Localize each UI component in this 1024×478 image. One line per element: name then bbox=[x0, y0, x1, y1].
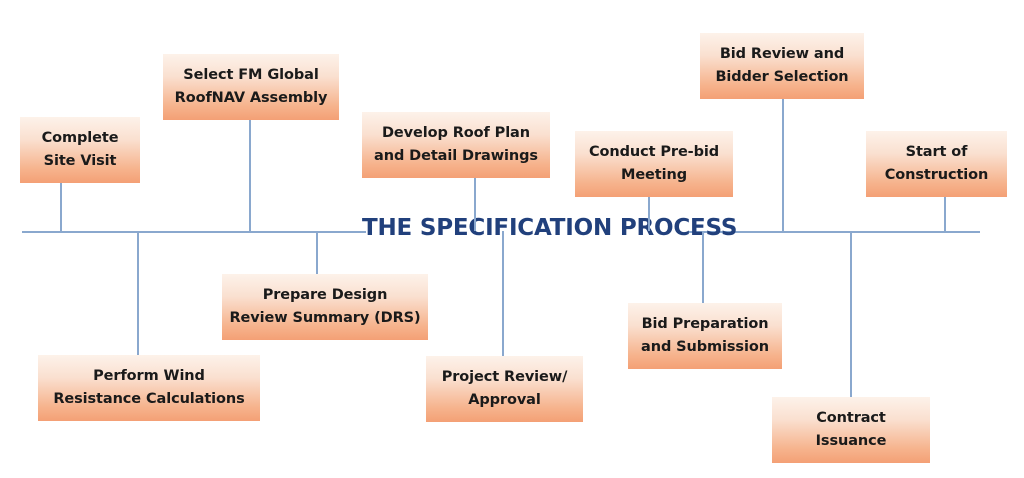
process-node-label: Complete Site Visit bbox=[42, 127, 119, 174]
process-node-complete-site-visit[interactable]: Complete Site Visit bbox=[20, 117, 140, 183]
process-node-label: Develop Roof Plan and Detail Drawings bbox=[374, 122, 538, 169]
process-node-label: Project Review/ Approval bbox=[442, 366, 568, 413]
process-node-contract-issuance[interactable]: Contract Issuance bbox=[772, 397, 930, 463]
timeline-spine-left bbox=[22, 231, 366, 233]
connector-select-fm-global-roofnav-assembly bbox=[249, 120, 251, 231]
process-node-label: Bid Preparation and Submission bbox=[641, 313, 769, 360]
connector-project-review-approval bbox=[502, 231, 504, 356]
process-node-start-of-construction[interactable]: Start of Construction bbox=[866, 131, 1007, 197]
process-node-label: Prepare Design Review Summary (DRS) bbox=[229, 284, 420, 331]
page-title: THE SPECIFICATION PROCESS bbox=[362, 215, 692, 241]
process-node-perform-wind-resistance-calculations[interactable]: Perform Wind Resistance Calculations bbox=[38, 355, 260, 421]
connector-contract-issuance bbox=[850, 231, 852, 397]
connector-complete-site-visit bbox=[60, 183, 62, 231]
process-node-project-review-approval[interactable]: Project Review/ Approval bbox=[426, 356, 583, 422]
connector-perform-wind-resistance-calculations bbox=[137, 231, 139, 355]
process-node-label: Contract Issuance bbox=[816, 407, 887, 454]
connector-develop-roof-plan-and-detail-drawings bbox=[474, 178, 476, 231]
process-node-develop-roof-plan-and-detail-drawings[interactable]: Develop Roof Plan and Detail Drawings bbox=[362, 112, 550, 178]
connector-prepare-design-review-summary bbox=[316, 231, 318, 274]
process-node-bid-preparation-and-submission[interactable]: Bid Preparation and Submission bbox=[628, 303, 782, 369]
process-node-select-fm-global-roofnav-assembly[interactable]: Select FM Global RoofNAV Assembly bbox=[163, 54, 339, 120]
process-node-label: Conduct Pre-bid Meeting bbox=[589, 141, 719, 188]
connector-conduct-pre-bid-meeting bbox=[648, 197, 650, 231]
process-node-label: Select FM Global RoofNAV Assembly bbox=[175, 64, 328, 111]
process-node-prepare-design-review-summary[interactable]: Prepare Design Review Summary (DRS) bbox=[222, 274, 428, 340]
connector-bid-preparation-and-submission bbox=[702, 231, 704, 303]
process-node-label: Perform Wind Resistance Calculations bbox=[53, 365, 244, 412]
process-node-conduct-pre-bid-meeting[interactable]: Conduct Pre-bid Meeting bbox=[575, 131, 733, 197]
process-node-label: Bid Review and Bidder Selection bbox=[715, 43, 848, 90]
process-node-label: Start of Construction bbox=[885, 141, 989, 188]
connector-bid-review-and-bidder-selection bbox=[782, 99, 784, 231]
connector-start-of-construction bbox=[944, 197, 946, 231]
specification-process-diagram: THE SPECIFICATION PROCESS Complete Site … bbox=[0, 0, 1024, 478]
process-node-bid-review-and-bidder-selection[interactable]: Bid Review and Bidder Selection bbox=[700, 33, 864, 99]
